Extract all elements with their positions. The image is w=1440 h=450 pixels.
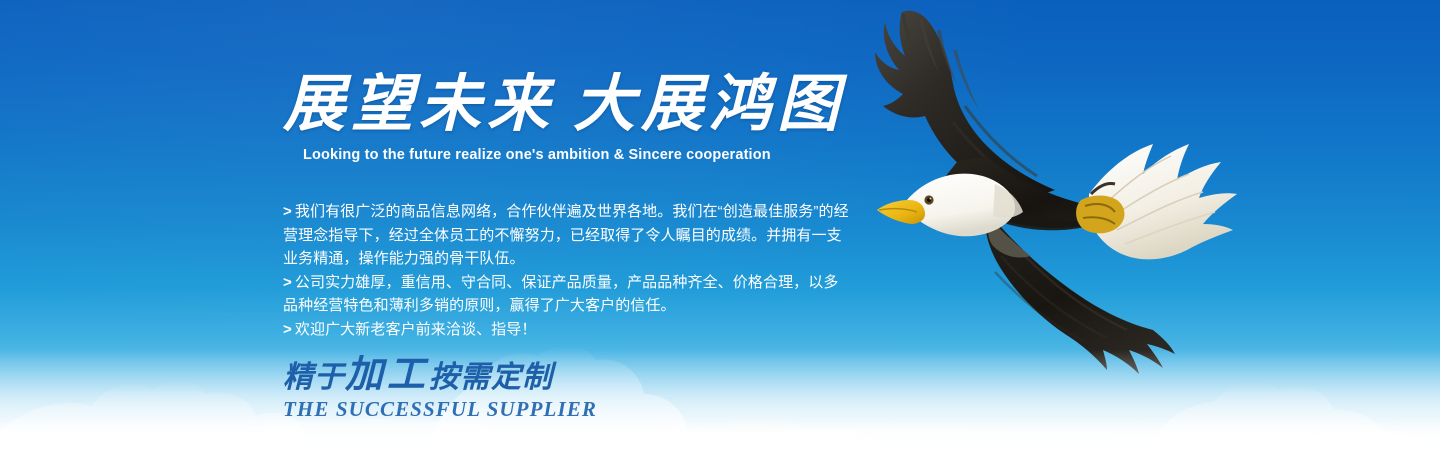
page-title: 展望未来大展鸿图 bbox=[283, 72, 883, 138]
bullet-marker-icon: > bbox=[283, 203, 295, 220]
company-hero-banner: 展望未来大展鸿图 Looking to the future realize o… bbox=[0, 0, 1440, 450]
bullet-marker-icon: > bbox=[283, 321, 295, 338]
body-paragraph-1-text: 我们有很广泛的商品信息网络，合作伙伴遍及世界各地。我们在“创造最佳服务”的经营理… bbox=[283, 203, 849, 267]
body-paragraph-3: >欢迎广大新老客户前来洽谈、指导！ bbox=[283, 318, 853, 342]
eagle-beak bbox=[877, 200, 925, 224]
body-paragraph-3-text: 欢迎广大新老客户前来洽谈、指导！ bbox=[295, 321, 537, 338]
body-paragraph-2: >公司实力雄厚，重信用、守合同、保证产品质量，产品品种齐全、价格合理，以多品种经… bbox=[283, 271, 853, 318]
company-slogan: 精于加工按需定制 THE SUCCESSFUL SUPPLIER bbox=[283, 358, 703, 421]
headline-part-1: 展望未来 bbox=[283, 71, 555, 139]
headline-part-2: 大展鸿图 bbox=[573, 71, 845, 139]
page-subtitle: Looking to the future realize one's ambi… bbox=[303, 147, 883, 163]
slogan-english: THE SUCCESSFUL SUPPLIER bbox=[283, 397, 703, 421]
slogan-prefix: 精于 bbox=[283, 361, 345, 394]
slogan-emphasis: 加工 bbox=[345, 354, 429, 396]
body-paragraph-2-text: 公司实力雄厚，重信用、守合同、保证产品质量，产品品种齐全、价格合理，以多品种经营… bbox=[283, 274, 838, 315]
slogan-suffix: 按需定制 bbox=[429, 361, 553, 394]
body-paragraph-1: >我们有很广泛的商品信息网络，合作伙伴遍及世界各地。我们在“创造最佳服务”的经营… bbox=[283, 200, 853, 271]
bullet-marker-icon: > bbox=[283, 274, 295, 291]
slogan-chinese: 精于加工按需定制 bbox=[283, 358, 703, 395]
body-copy: >我们有很广泛的商品信息网络，合作伙伴遍及世界各地。我们在“创造最佳服务”的经营… bbox=[283, 200, 858, 341]
